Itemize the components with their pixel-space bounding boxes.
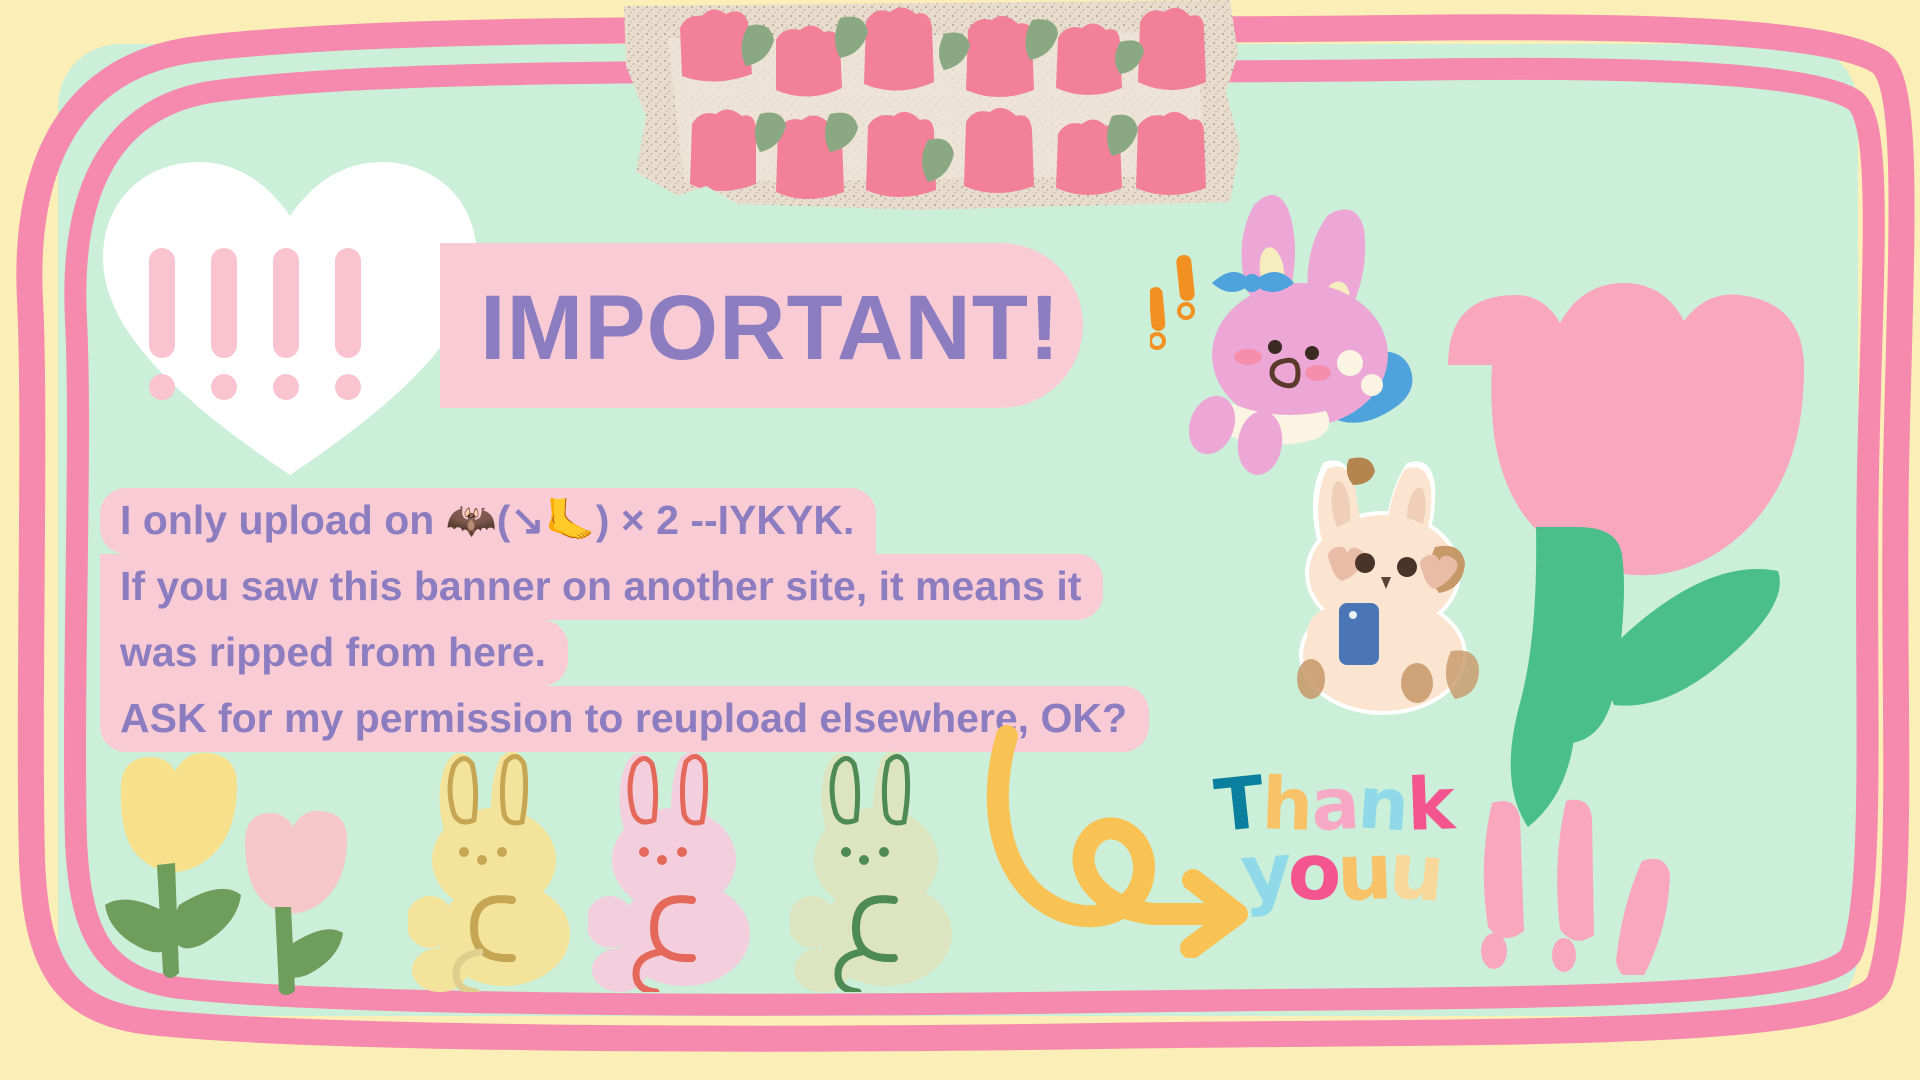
phone-icon: [1339, 603, 1379, 665]
message-line-3: was ripped from here.: [100, 620, 568, 686]
banner-canvas: IMPORTANT! I only upload on 🦇(↘🦶) × 2 --…: [0, 0, 1920, 1080]
orange-exclamation-marks: [1150, 254, 1195, 348]
thank-you-letter: o: [1286, 833, 1344, 914]
heart-icon: [95, 150, 485, 480]
page-title: IMPORTANT!: [480, 268, 1120, 388]
small-tulips-icon: [95, 745, 375, 995]
green-bunny-cookie-icon: [790, 742, 990, 992]
thank-you-lettering: Thank youu: [1215, 768, 1515, 948]
pink-bunny-cookie-icon: [588, 742, 788, 992]
thank-you-letter: u: [1386, 832, 1448, 915]
message-line-2: If you saw this banner on another site, …: [100, 554, 1103, 620]
thank-you-word-two: youu: [1241, 834, 1441, 912]
flying-pink-bunny-icon: [1150, 175, 1470, 485]
message-block: I only upload on 🦇(↘🦶) × 2 --IYKYK. If y…: [100, 488, 1160, 752]
message-line-1: I only upload on 🦇(↘🦶) × 2 --IYKYK.: [100, 488, 876, 554]
yellow-bunny-cookie-icon: [408, 742, 608, 992]
